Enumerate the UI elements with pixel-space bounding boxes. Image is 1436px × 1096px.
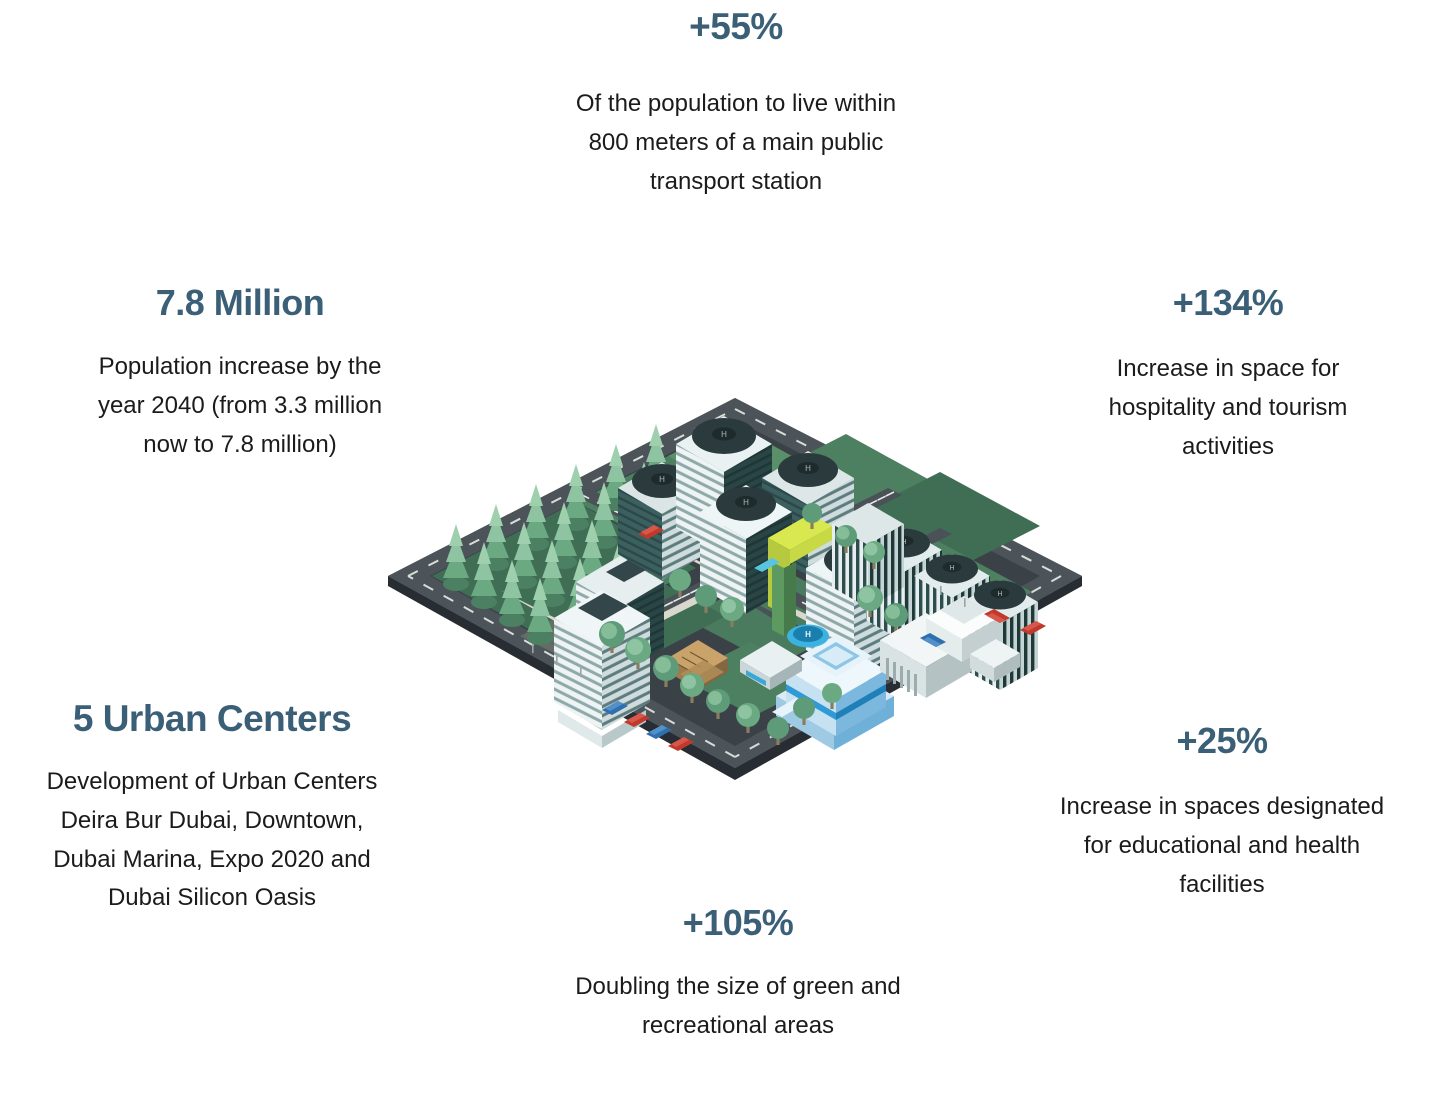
svg-text:H: H	[743, 498, 749, 507]
stat-desc-line: activities	[1028, 428, 1428, 467]
svg-text:H: H	[721, 430, 727, 439]
stat-desc-line: Increase in spaces designated	[1004, 788, 1436, 827]
svg-text:H: H	[949, 565, 954, 572]
stat-desc-line: 800 meters of a main public	[516, 124, 956, 163]
stat-desc-line: Of the population to live within	[516, 85, 956, 124]
stat-block-urban-centers: 5 Urban Centers Development of Urban Cen…	[0, 700, 430, 918]
stat-value-population: 7.8 Million	[28, 284, 452, 322]
stat-desc-line: transport station	[516, 163, 956, 202]
stat-block-green-areas: +105% Doubling the size of green and rec…	[518, 904, 958, 1046]
stat-description-hospitality: Increase in space for hospitality and to…	[1028, 350, 1428, 467]
svg-text:H: H	[997, 591, 1002, 598]
isometric-city-illustration: H H H	[380, 318, 1086, 786]
stat-desc-line: for educational and health	[1004, 827, 1436, 866]
stat-desc-line: Dubai Silicon Oasis	[0, 879, 430, 918]
stat-desc-line: Development of Urban Centers	[0, 763, 430, 802]
svg-text:H: H	[805, 464, 811, 473]
stat-description-transport: Of the population to live within 800 met…	[516, 85, 956, 202]
stat-desc-line: Doubling the size of green and	[518, 968, 958, 1007]
stat-value-hospitality: +134%	[1028, 284, 1428, 322]
stat-description-green-areas: Doubling the size of green and recreatio…	[518, 968, 958, 1046]
stat-desc-line: facilities	[1004, 866, 1436, 905]
stat-desc-line: Dubai Marina, Expo 2020 and	[0, 841, 430, 880]
infographic-canvas: +55% Of the population to live within 80…	[0, 0, 1436, 1096]
stat-value-urban-centers: 5 Urban Centers	[0, 700, 430, 739]
stat-value-transport: +55%	[516, 8, 956, 47]
stat-description-urban-centers: Development of Urban Centers Deira Bur D…	[0, 763, 430, 919]
stat-block-transport: +55% Of the population to live within 80…	[516, 8, 956, 201]
stat-description-education: Increase in spaces designated for educat…	[1004, 788, 1436, 905]
svg-text:H: H	[659, 475, 665, 484]
stat-block-hospitality: +134% Increase in space for hospitality …	[1028, 284, 1428, 466]
svg-text:H: H	[805, 630, 811, 639]
stat-value-green-areas: +105%	[518, 904, 958, 942]
stat-desc-line: recreational areas	[518, 1007, 958, 1046]
stat-desc-line: Increase in space for	[1028, 350, 1428, 389]
stat-desc-line: hospitality and tourism	[1028, 389, 1428, 428]
stat-desc-line: Deira Bur Dubai, Downtown,	[0, 802, 430, 841]
